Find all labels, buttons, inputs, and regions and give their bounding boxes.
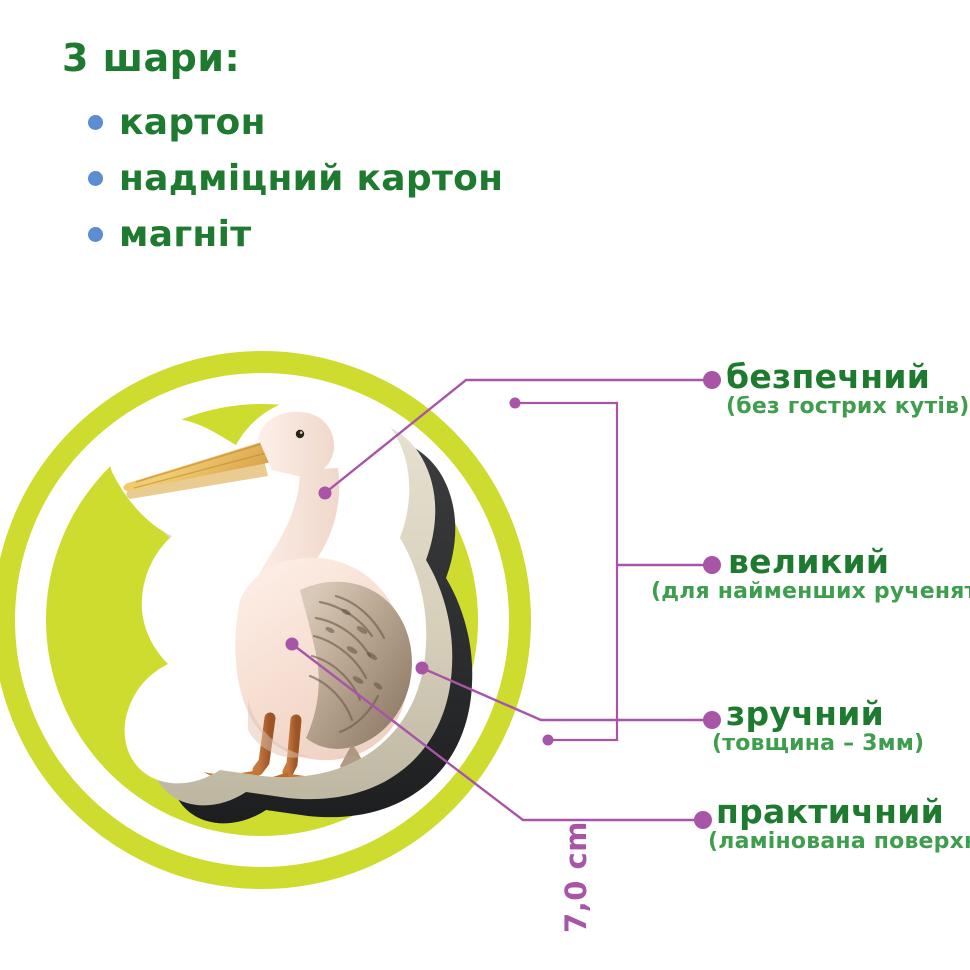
blue-dot-bullet-icon	[88, 227, 103, 242]
callout-zruchnyi: зручний (товщина – 3мм)	[726, 697, 924, 755]
spec-list-item-kartontop: картон	[88, 102, 266, 143]
blue-dot-bullet-icon	[88, 171, 103, 186]
callout-subtitle: (ламінована поверхня)	[708, 830, 970, 853]
spec-item-label: надміцний картон	[119, 158, 503, 199]
callout-title: безпечний	[726, 360, 970, 394]
callout-title: великий	[728, 545, 970, 579]
callout-subtitle: (для найменших рученят)	[651, 580, 970, 603]
callout-title: практичний	[716, 795, 970, 829]
pelican-eye	[296, 430, 304, 438]
callout-bezpechnyi: безпечний (без гострих кутів)	[726, 360, 970, 418]
spec-list-item-reinforced-carton: надміцний картон	[88, 158, 503, 199]
spec-title: 3 шари:	[62, 36, 240, 80]
spec-item-label: картон	[119, 102, 266, 143]
dimension-label-7cm: 7,0 cm	[516, 860, 636, 894]
callout-subtitle: (без гострих кутів)	[726, 395, 970, 418]
leader-line-velykyi	[617, 556, 721, 574]
callout-title: зручний	[726, 697, 924, 731]
blue-dot-bullet-icon	[88, 115, 103, 130]
top-white-card-layer	[110, 396, 426, 800]
spec-list-item-magnet: магніт	[88, 214, 251, 255]
callout-subtitle: (товщина – 3мм)	[712, 732, 924, 755]
callout-praktychnyi: практичний (ламінована поверхня)	[716, 795, 970, 853]
spec-item-label: магніт	[119, 214, 251, 255]
callout-velykyi: великий (для найменших рученят)	[726, 545, 970, 603]
